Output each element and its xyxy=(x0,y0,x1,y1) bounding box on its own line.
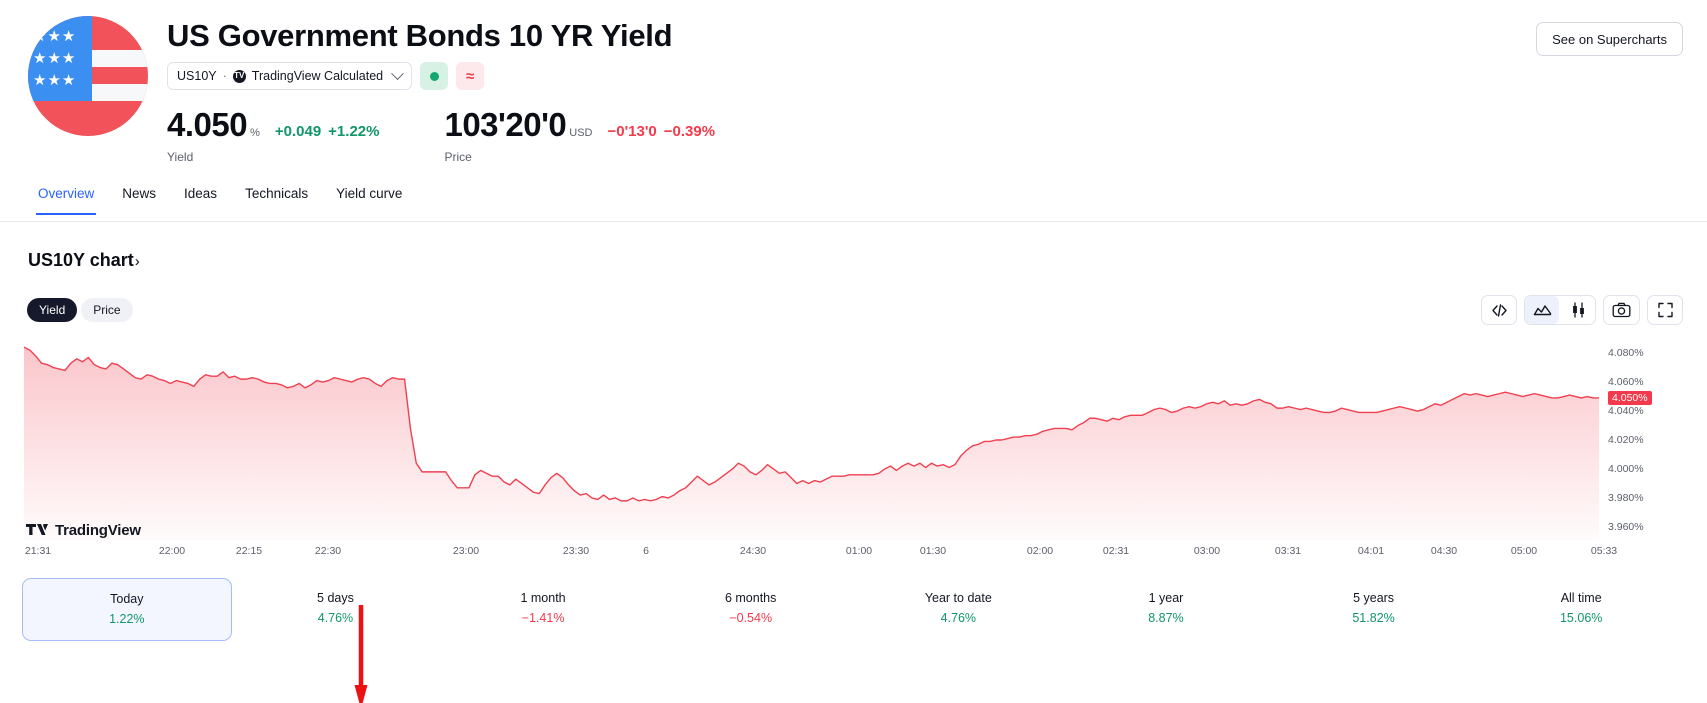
see-on-supercharts-button[interactable]: See on Supercharts xyxy=(1536,22,1683,56)
period-label: All time xyxy=(1477,591,1685,605)
period-label: 5 years xyxy=(1270,591,1478,605)
period-5-days[interactable]: 5 days4.76% xyxy=(232,578,440,641)
snapshot-button[interactable] xyxy=(1603,295,1640,325)
period-label: Today xyxy=(23,592,231,606)
tab-yield-curve[interactable]: Yield curve xyxy=(322,186,416,214)
green-dot-icon xyxy=(430,72,439,81)
yield-change-abs: +0.049 xyxy=(275,123,321,140)
chart-x-axis: 21:3122:0022:1522:3023:0023:30624:3001:0… xyxy=(0,545,1707,567)
chart-area[interactable]: TradingView xyxy=(0,340,1707,545)
period-1-year[interactable]: 1 year8.87% xyxy=(1062,578,1270,641)
y-axis-tick: 3.980% xyxy=(1608,492,1644,504)
period-label: 6 months xyxy=(647,591,855,605)
y-axis-tick: 4.080% xyxy=(1608,347,1644,359)
x-axis-tick: 24:30 xyxy=(740,545,766,557)
y-axis-tick: 4.040% xyxy=(1608,405,1644,417)
chart-type-group xyxy=(1524,295,1596,325)
us-flag-icon: ★★★★★★★★★ xyxy=(28,16,148,136)
x-axis-tick: 01:00 xyxy=(846,545,872,557)
tab-ideas[interactable]: Ideas xyxy=(170,186,231,214)
yield-value: 4.050 xyxy=(167,106,247,144)
y-axis-tick: 3.960% xyxy=(1608,521,1644,533)
period-change: −0.54% xyxy=(647,611,855,625)
x-axis-tick: 23:30 xyxy=(563,545,589,557)
x-axis-tick: 03:00 xyxy=(1194,545,1220,557)
price-quote: 103'20'0 USD −0'13'0−0.39% Price xyxy=(444,106,715,164)
yield-change-pct: +1.22% xyxy=(328,123,379,140)
x-axis-tick: 04:01 xyxy=(1358,545,1384,557)
y-axis-tick: 4.020% xyxy=(1608,434,1644,446)
symbol-separator: · xyxy=(223,69,227,83)
x-axis-tick: 22:15 xyxy=(236,545,262,557)
tab-technicals[interactable]: Technicals xyxy=(231,186,322,214)
period-6-months[interactable]: 6 months−0.54% xyxy=(647,578,855,641)
tab-news[interactable]: News xyxy=(108,186,170,214)
chevron-right-icon: › xyxy=(135,253,140,270)
symbol-selector[interactable]: US10Y · TV TradingView Calculated xyxy=(167,62,412,90)
yield-area-chart xyxy=(24,340,1599,540)
x-axis-tick: 05:33 xyxy=(1591,545,1617,557)
period-5-years[interactable]: 5 years51.82% xyxy=(1270,578,1478,641)
price-change: −0'13'0−0.39% xyxy=(608,123,716,140)
x-axis-tick: 6 xyxy=(643,545,649,557)
symbol-ticker: US10Y xyxy=(177,69,217,83)
price-value: 103'20'0 xyxy=(444,106,566,144)
yield-price-toggle: Yield Price xyxy=(27,298,133,322)
x-axis-tick: 22:30 xyxy=(315,545,341,557)
period-label: Year to date xyxy=(855,591,1063,605)
area-chart-button[interactable] xyxy=(1525,296,1559,324)
nav-tabs: OverviewNewsIdeasTechnicalsYield curve xyxy=(0,186,1707,222)
code-icon xyxy=(1491,303,1508,318)
camera-icon xyxy=(1612,302,1631,318)
x-axis-tick: 04:30 xyxy=(1431,545,1457,557)
period-change: −1.41% xyxy=(439,611,647,625)
price-change-abs: −0'13'0 xyxy=(608,123,657,140)
approx-icon: ≈ xyxy=(466,68,474,85)
chart-heading-label: US10Y chart xyxy=(28,250,134,270)
candlestick-icon xyxy=(1570,302,1587,318)
x-axis-tick: 05:00 xyxy=(1511,545,1537,557)
x-axis-tick: 03:31 xyxy=(1275,545,1301,557)
market-open-badge[interactable] xyxy=(420,62,448,90)
x-axis-tick: 23:00 xyxy=(453,545,479,557)
chart-y-axis: 4.080%4.060%4.050%4.040%4.020%4.000%3.98… xyxy=(1608,340,1707,540)
period-label: 1 month xyxy=(439,591,647,605)
tradingview-logo-icon: TV xyxy=(233,70,246,83)
price-unit: USD xyxy=(569,127,592,139)
fullscreen-button[interactable] xyxy=(1647,295,1683,325)
quotes-row: 4.050 % +0.049+1.22% Yield 103'20'0 USD … xyxy=(167,106,715,164)
period-change: 15.06% xyxy=(1477,611,1685,625)
tradingview-watermark: TradingView xyxy=(26,522,141,539)
yield-change: +0.049+1.22% xyxy=(275,123,380,140)
candlestick-chart-button[interactable] xyxy=(1561,296,1595,324)
period-performance-row: Today1.22%5 days4.76%1 month−1.41%6 mont… xyxy=(0,578,1707,641)
price-change-pct: −0.39% xyxy=(664,123,715,140)
period-change: 4.76% xyxy=(232,611,440,625)
tab-overview[interactable]: Overview xyxy=(24,186,108,214)
derived-data-badge[interactable]: ≈ xyxy=(456,62,484,90)
y-axis-tick: 4.060% xyxy=(1608,376,1644,388)
yield-unit: % xyxy=(250,127,260,139)
page-title: US Government Bonds 10 YR Yield xyxy=(167,18,672,54)
yield-quote: 4.050 % +0.049+1.22% Yield xyxy=(167,106,379,164)
fullscreen-icon xyxy=(1657,302,1674,318)
symbol-source: TradingView Calculated xyxy=(252,69,383,83)
period-label: 1 year xyxy=(1062,591,1270,605)
area-chart-icon xyxy=(1533,303,1552,318)
page-root: ★★★★★★★★★ US Government Bonds 10 YR Yiel… xyxy=(0,0,1707,703)
y-axis-tick: 4.000% xyxy=(1608,463,1644,475)
page-header: ★★★★★★★★★ US Government Bonds 10 YR Yiel… xyxy=(0,0,1707,14)
tradingview-watermark-label: TradingView xyxy=(55,522,141,539)
period-today[interactable]: Today1.22% xyxy=(22,578,232,641)
x-axis-tick: 02:31 xyxy=(1103,545,1129,557)
period-1-month[interactable]: 1 month−1.41% xyxy=(439,578,647,641)
price-label: Price xyxy=(444,150,715,164)
x-axis-tick: 21:31 xyxy=(25,545,51,557)
period-change: 1.22% xyxy=(23,612,231,626)
toggle-price[interactable]: Price xyxy=(81,298,132,322)
y-axis-current-price-label: 4.050% xyxy=(1608,391,1652,405)
chart-heading[interactable]: US10Y chart› xyxy=(28,250,140,271)
x-axis-tick: 02:00 xyxy=(1027,545,1053,557)
chevron-down-icon xyxy=(391,67,404,80)
period-label: 5 days xyxy=(232,591,440,605)
tradingview-mark-icon xyxy=(26,524,48,537)
x-axis-tick: 22:00 xyxy=(159,545,185,557)
symbol-row: US10Y · TV TradingView Calculated ≈ xyxy=(167,62,484,90)
chart-toolbar xyxy=(1481,295,1683,325)
period-change: 8.87% xyxy=(1062,611,1270,625)
period-change: 51.82% xyxy=(1270,611,1478,625)
toggle-yield[interactable]: Yield xyxy=(27,298,77,322)
period-year-to-date[interactable]: Year to date4.76% xyxy=(855,578,1063,641)
embed-code-button[interactable] xyxy=(1481,295,1517,325)
period-all-time[interactable]: All time15.06% xyxy=(1477,578,1685,641)
period-change: 4.76% xyxy=(855,611,1063,625)
yield-label: Yield xyxy=(167,150,379,164)
x-axis-tick: 01:30 xyxy=(920,545,946,557)
